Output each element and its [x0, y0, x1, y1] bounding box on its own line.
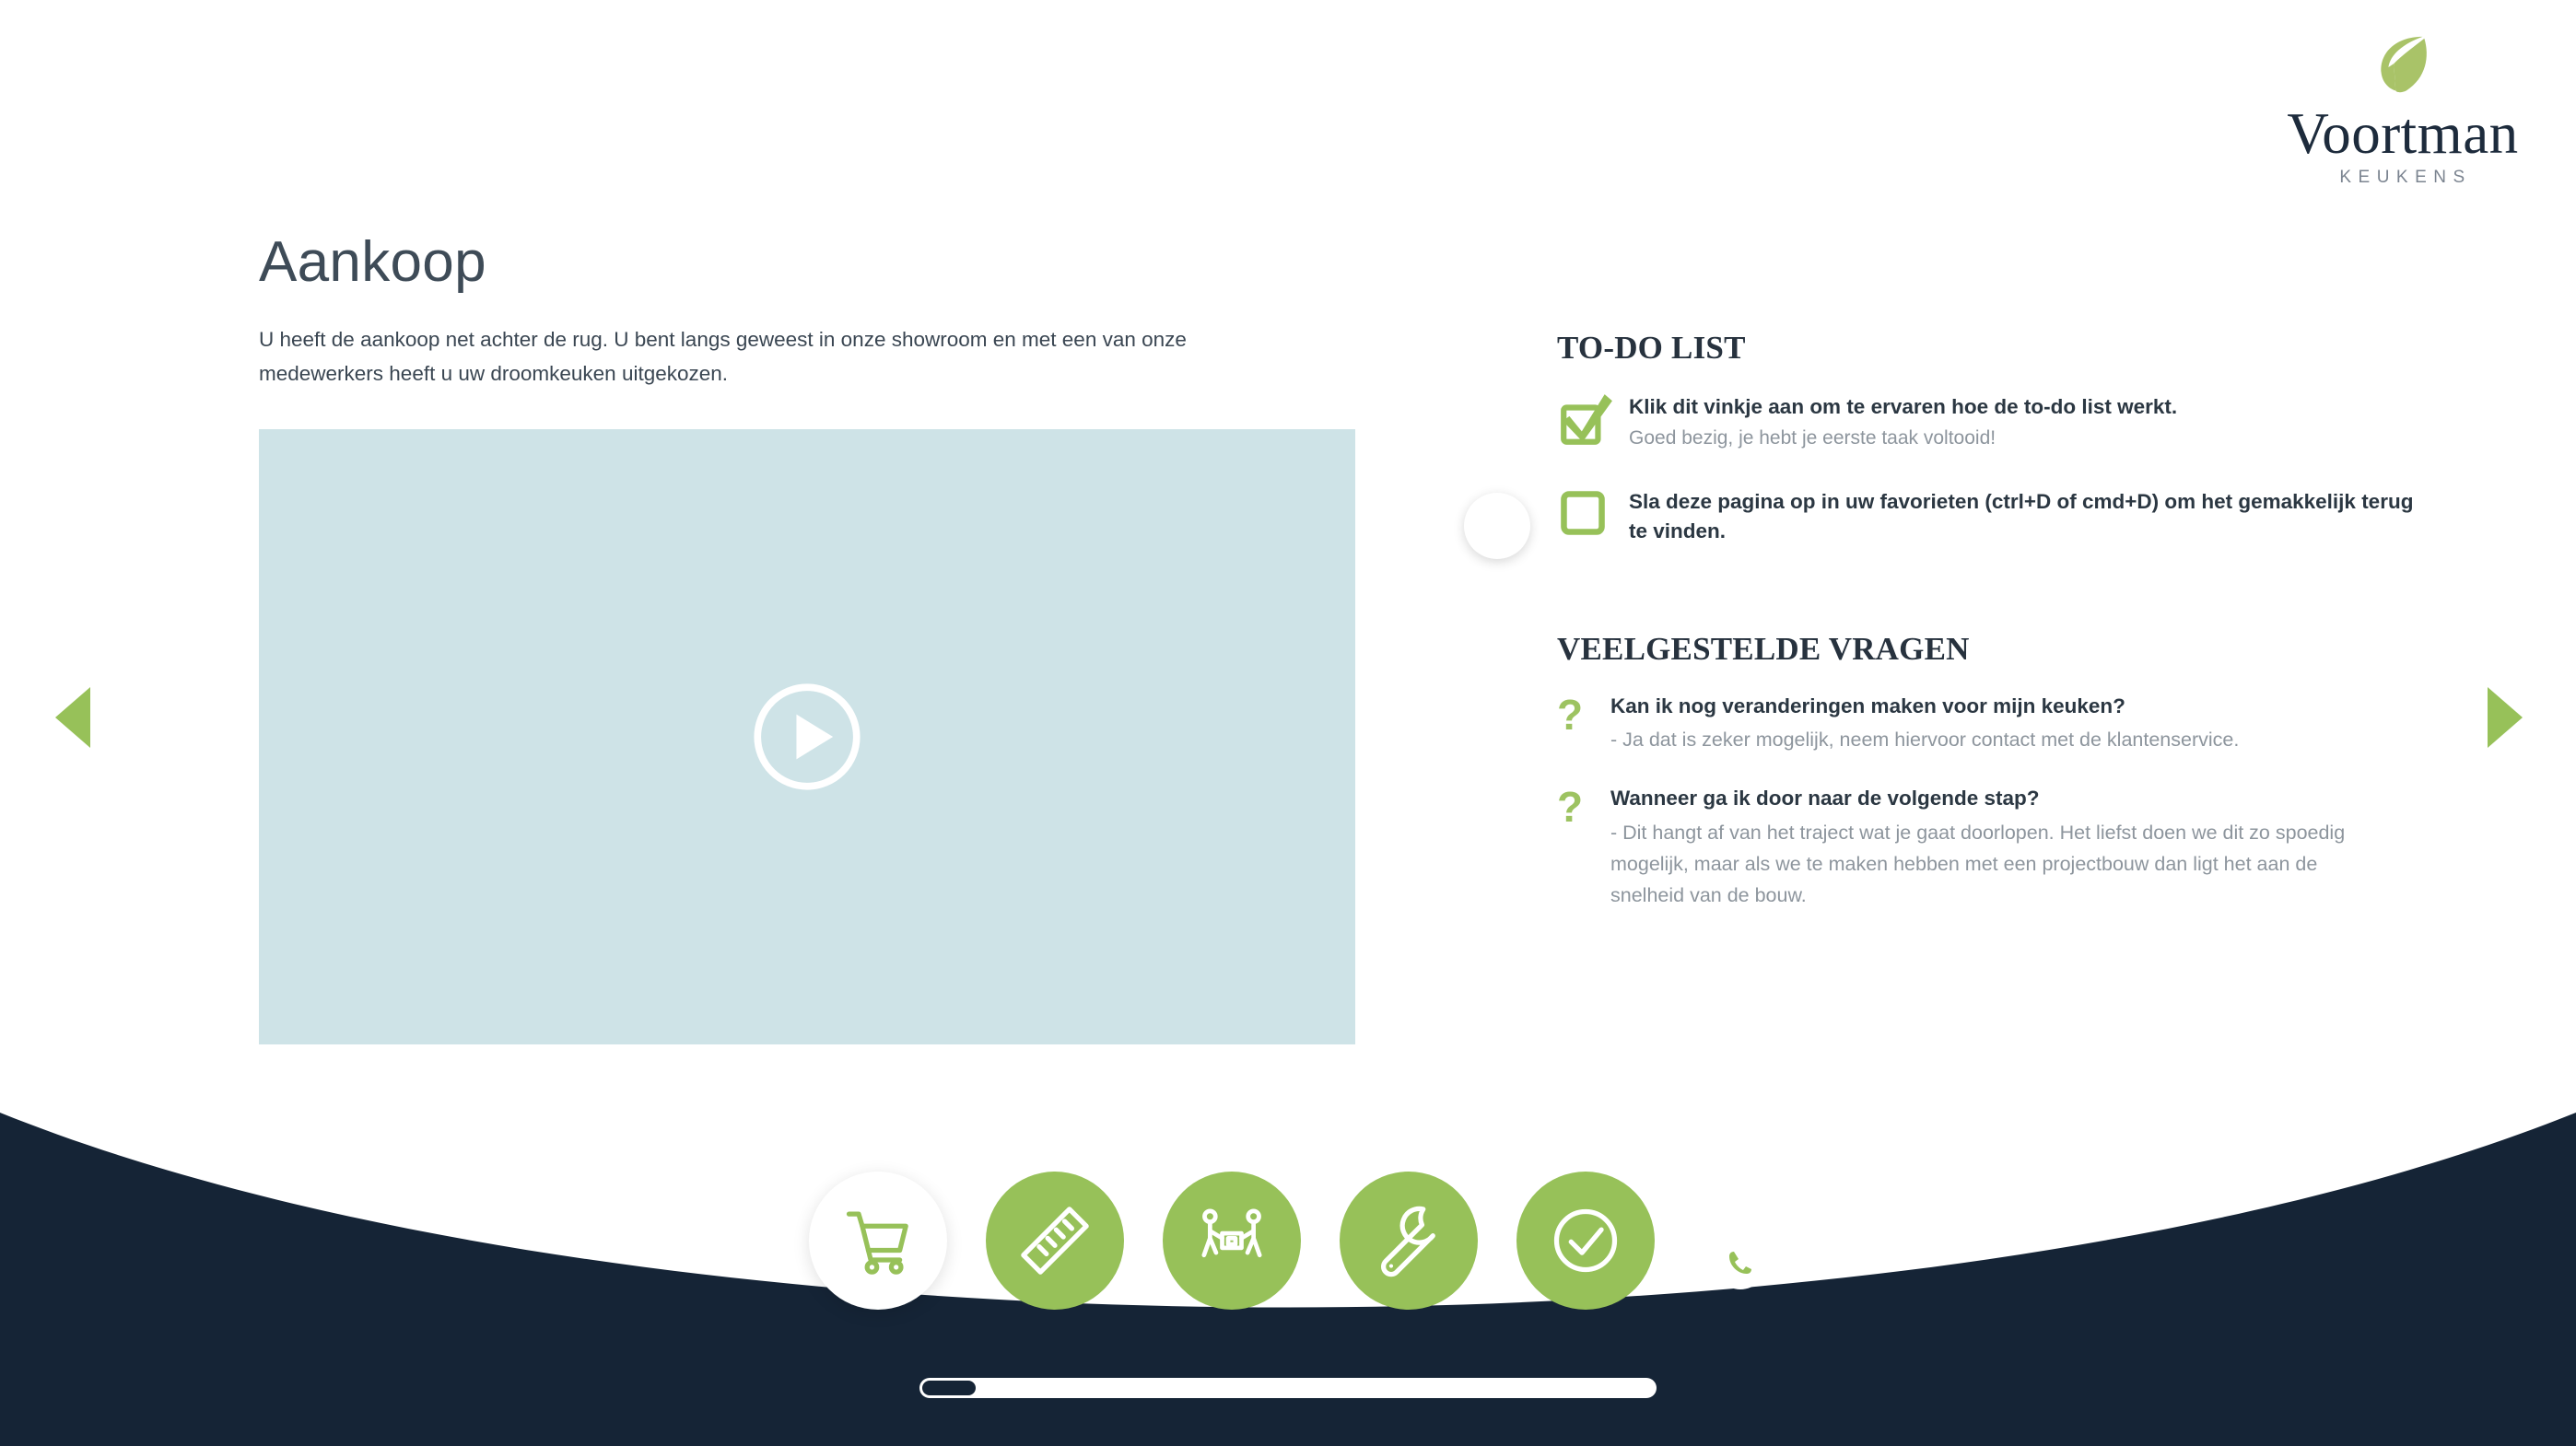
step-oplevering[interactable]	[1516, 1172, 1655, 1310]
todo-item-2[interactable]: Sla deze pagina op in uw favorieten (ctr…	[1557, 485, 2414, 546]
check-circle-icon	[1547, 1202, 1624, 1279]
faq-item-1-text: Kan ik nog veranderingen maken voor mijn…	[1610, 692, 2239, 756]
play-icon[interactable]	[748, 678, 866, 796]
leaf-icon	[2367, 31, 2439, 103]
contact-phone-button[interactable]	[1714, 1236, 1767, 1289]
todo-item-1-subtitle: Goed bezig, je hebt je eerste taak volto…	[1629, 424, 2177, 453]
brand-tagline: KEUKENS	[2265, 169, 2541, 186]
faq-item-1-answer: - Ja dat is zeker mogelijk, neem hiervoo…	[1610, 725, 2239, 756]
video-player[interactable]	[259, 429, 1355, 1044]
todo-item-1-text: Klik dit vinkje aan om te ervaren hoe de…	[1629, 391, 2177, 452]
cursor-hover-indicator	[1464, 493, 1530, 559]
wrench-icon	[1370, 1202, 1447, 1279]
brand-logo[interactable]: Voortman KEUKENS	[2265, 31, 2541, 186]
todo-heading: TO-DO LIST	[1557, 330, 2414, 367]
prev-slide-arrow[interactable]	[55, 687, 90, 748]
question-mark-icon: ?	[1557, 784, 1610, 828]
progress-thumb[interactable]	[922, 1381, 976, 1395]
step-inmeten[interactable]	[986, 1172, 1124, 1310]
faq-item-2-question: Wanneer ga ik door naar de volgende stap…	[1610, 784, 2348, 813]
ruler-icon	[1016, 1202, 1094, 1279]
todo-checkbox-checked[interactable]	[1557, 391, 1629, 454]
progress-bar[interactable]	[919, 1378, 1657, 1398]
faq-item-2: ? Wanneer ga ik door naar de volgende st…	[1557, 784, 2414, 911]
question-mark-icon: ?	[1557, 692, 1610, 736]
intro-paragraph: U heeft de aankoop net achter de rug. U …	[259, 323, 1263, 391]
todo-item-1[interactable]: Klik dit vinkje aan om te ervaren hoe de…	[1557, 391, 2414, 454]
faq-item-1: ? Kan ik nog veranderingen maken voor mi…	[1557, 692, 2414, 756]
brand-name: Voortman	[2265, 105, 2541, 163]
faq-heading: VEELGESTELDE VRAGEN	[1557, 631, 2414, 668]
step-levering[interactable]	[1163, 1172, 1301, 1310]
phone-icon	[1726, 1248, 1755, 1277]
next-slide-arrow[interactable]	[2488, 687, 2523, 748]
todo-checkbox-empty[interactable]	[1557, 485, 1629, 543]
todo-item-2-title: Sla deze pagina op in uw favorieten (ctr…	[1629, 487, 2414, 546]
todo-item-1-title: Klik dit vinkje aan om te ervaren hoe de…	[1629, 392, 2177, 422]
step-aankoop[interactable]	[809, 1172, 947, 1310]
sidebar-panel: TO-DO LIST Klik dit vinkje aan om te erv…	[1557, 330, 2414, 939]
checkbox-empty-icon[interactable]	[1557, 487, 1609, 539]
delivery-people-icon	[1193, 1202, 1270, 1279]
faq-item-2-text: Wanneer ga ik door naar de volgende stap…	[1610, 784, 2348, 911]
step-montage[interactable]	[1340, 1172, 1478, 1310]
page-title: Aankoop	[259, 232, 1355, 292]
checkbox-checked-icon[interactable]	[1557, 392, 1614, 449]
shopping-cart-icon	[839, 1202, 917, 1279]
main-content: Aankoop U heeft de aankoop net achter de…	[259, 232, 1355, 1044]
faq-item-2-answer: - Dit hangt af van het traject wat je ga…	[1610, 818, 2348, 912]
faq-item-1-question: Kan ik nog veranderingen maken voor mijn…	[1610, 692, 2239, 721]
todo-item-2-text: Sla deze pagina op in uw favorieten (ctr…	[1629, 485, 2414, 546]
